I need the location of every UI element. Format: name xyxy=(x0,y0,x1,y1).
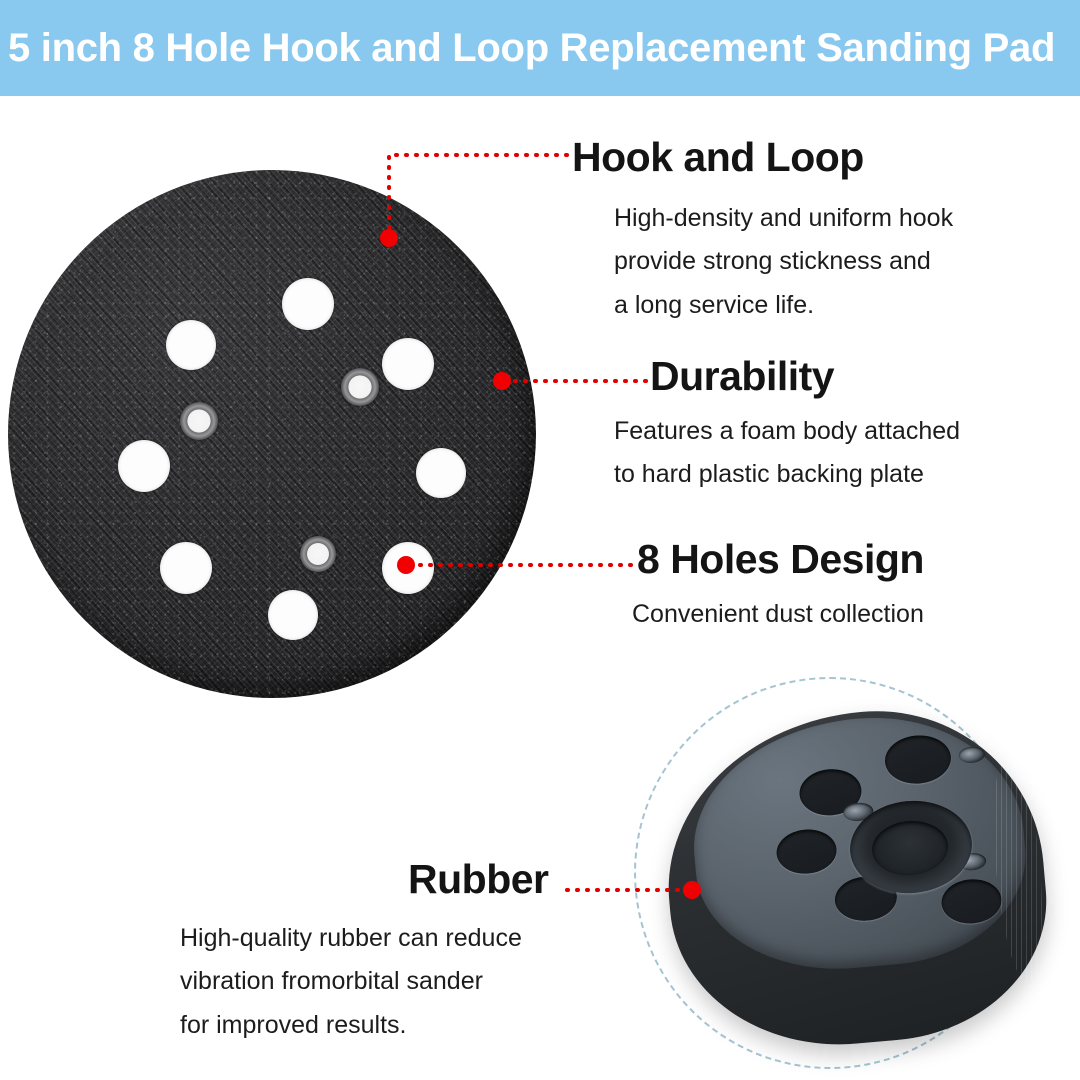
header-banner: 5 inch 8 Hole Hook and Loop Replacement … xyxy=(0,0,1080,96)
feature-body-line: provide strong stickness and xyxy=(614,240,953,283)
dust-hole xyxy=(416,448,466,498)
feature-durability: Durability Features a foam body attached… xyxy=(650,355,960,497)
pad-dust-hole xyxy=(940,877,1004,926)
dust-hole xyxy=(268,590,318,640)
feature-body-line: vibration fromorbital sander xyxy=(180,960,549,1003)
dust-hole xyxy=(118,440,170,492)
feature-body: Features a foam body attached to hard pl… xyxy=(614,410,960,497)
pad-dust-hole xyxy=(775,827,839,876)
rubber-pad-image xyxy=(628,655,1080,1080)
feature-title: Hook and Loop xyxy=(572,136,953,179)
screw-hole xyxy=(300,536,336,572)
feature-rubber: Rubber High-quality rubber can reduce vi… xyxy=(408,858,549,1047)
screw-hole xyxy=(180,402,218,440)
feature-hook-and-loop: Hook and Loop High-density and uniform h… xyxy=(572,136,953,327)
feature-body: High-density and uniform hook provide st… xyxy=(614,197,953,327)
feature-body: High-quality rubber can reduce vibration… xyxy=(180,917,549,1047)
feature-body-line: High-density and uniform hook xyxy=(614,197,953,240)
page-title: 5 inch 8 Hole Hook and Loop Replacement … xyxy=(0,26,1055,71)
feature-eight-holes-design: 8 Holes Design Convenient dust collectio… xyxy=(637,538,924,636)
feature-title: Rubber xyxy=(408,858,549,901)
feature-body-line: to hard plastic backing plate xyxy=(614,453,960,496)
dust-hole xyxy=(382,542,434,594)
feature-body-line: for improved results. xyxy=(180,1004,549,1047)
rubber-pad-3d xyxy=(668,713,1044,1043)
dust-hole xyxy=(282,278,334,330)
feature-body-line: High-quality rubber can reduce xyxy=(180,917,549,960)
feature-title: 8 Holes Design xyxy=(637,538,924,581)
pad-screw-slot xyxy=(958,746,985,764)
dust-hole xyxy=(382,338,434,390)
pad-dust-hole xyxy=(883,733,953,787)
sanding-pad-image xyxy=(8,170,536,698)
feature-title: Durability xyxy=(650,355,960,398)
feature-body-line: Features a foam body attached xyxy=(614,410,960,453)
product-infographic: 5 inch 8 Hole Hook and Loop Replacement … xyxy=(0,0,1080,1080)
sanding-pad-disc xyxy=(8,170,536,698)
feature-body: Convenient dust collection xyxy=(632,593,924,636)
dust-hole xyxy=(160,542,212,594)
feature-body-line: Convenient dust collection xyxy=(632,593,924,636)
screw-hole xyxy=(341,368,379,406)
feature-body-line: a long service life. xyxy=(614,284,953,327)
pad-center-recess xyxy=(870,818,950,878)
dust-hole xyxy=(166,320,216,370)
